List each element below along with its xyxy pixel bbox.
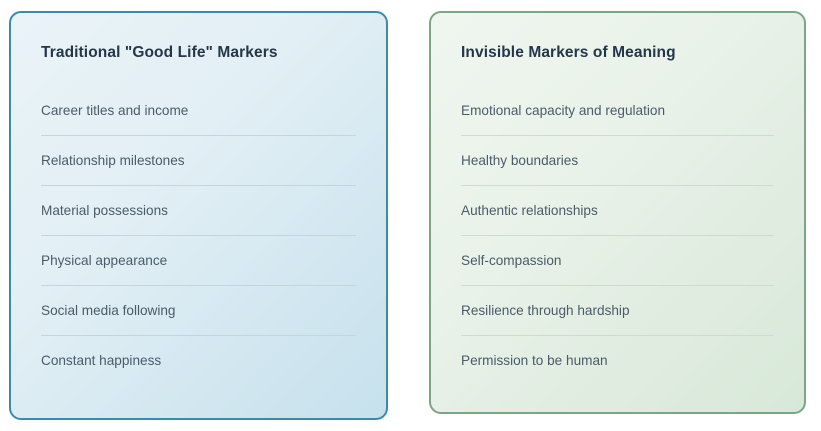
- list-item-label: Authentic relationships: [461, 202, 598, 220]
- list-item-label: Self-compassion: [461, 252, 562, 270]
- card-invisible-markers-of-meaning: Invisible Markers of Meaning Emotional c…: [429, 11, 806, 414]
- card-content: Traditional "Good Life" Markers Career t…: [11, 13, 386, 418]
- marker-list-invisible: Emotional capacity and regulation Health…: [461, 86, 774, 385]
- list-item-label: Permission to be human: [461, 352, 608, 370]
- list-item: Healthy boundaries: [461, 135, 774, 185]
- comparison-panel: Traditional "Good Life" Markers Career t…: [0, 0, 821, 431]
- list-item: Material possessions: [41, 185, 356, 235]
- card-content: Invisible Markers of Meaning Emotional c…: [431, 13, 804, 412]
- card-title-traditional: Traditional "Good Life" Markers: [41, 43, 356, 65]
- list-item-label: Constant happiness: [41, 352, 161, 370]
- list-item: Resilience through hardship: [461, 285, 774, 335]
- list-item: Social media following: [41, 285, 356, 335]
- list-item: Career titles and income: [41, 86, 356, 135]
- list-item: Physical appearance: [41, 235, 356, 285]
- list-item: Constant happiness: [41, 335, 356, 385]
- list-item-label: Healthy boundaries: [461, 152, 578, 170]
- list-item-label: Physical appearance: [41, 252, 167, 270]
- list-item-label: Social media following: [41, 302, 176, 320]
- list-item: Relationship milestones: [41, 135, 356, 185]
- card-traditional-good-life-markers: Traditional "Good Life" Markers Career t…: [9, 11, 388, 420]
- list-item: Emotional capacity and regulation: [461, 86, 774, 135]
- list-item-label: Relationship milestones: [41, 152, 185, 170]
- list-item: Self-compassion: [461, 235, 774, 285]
- list-item: Permission to be human: [461, 335, 774, 385]
- list-item-label: Material possessions: [41, 202, 168, 220]
- card-title-invisible: Invisible Markers of Meaning: [461, 43, 774, 65]
- list-item-label: Emotional capacity and regulation: [461, 102, 665, 120]
- marker-list-traditional: Career titles and income Relationship mi…: [41, 86, 356, 385]
- list-item-label: Career titles and income: [41, 102, 188, 120]
- list-item-label: Resilience through hardship: [461, 302, 630, 320]
- list-item: Authentic relationships: [461, 185, 774, 235]
